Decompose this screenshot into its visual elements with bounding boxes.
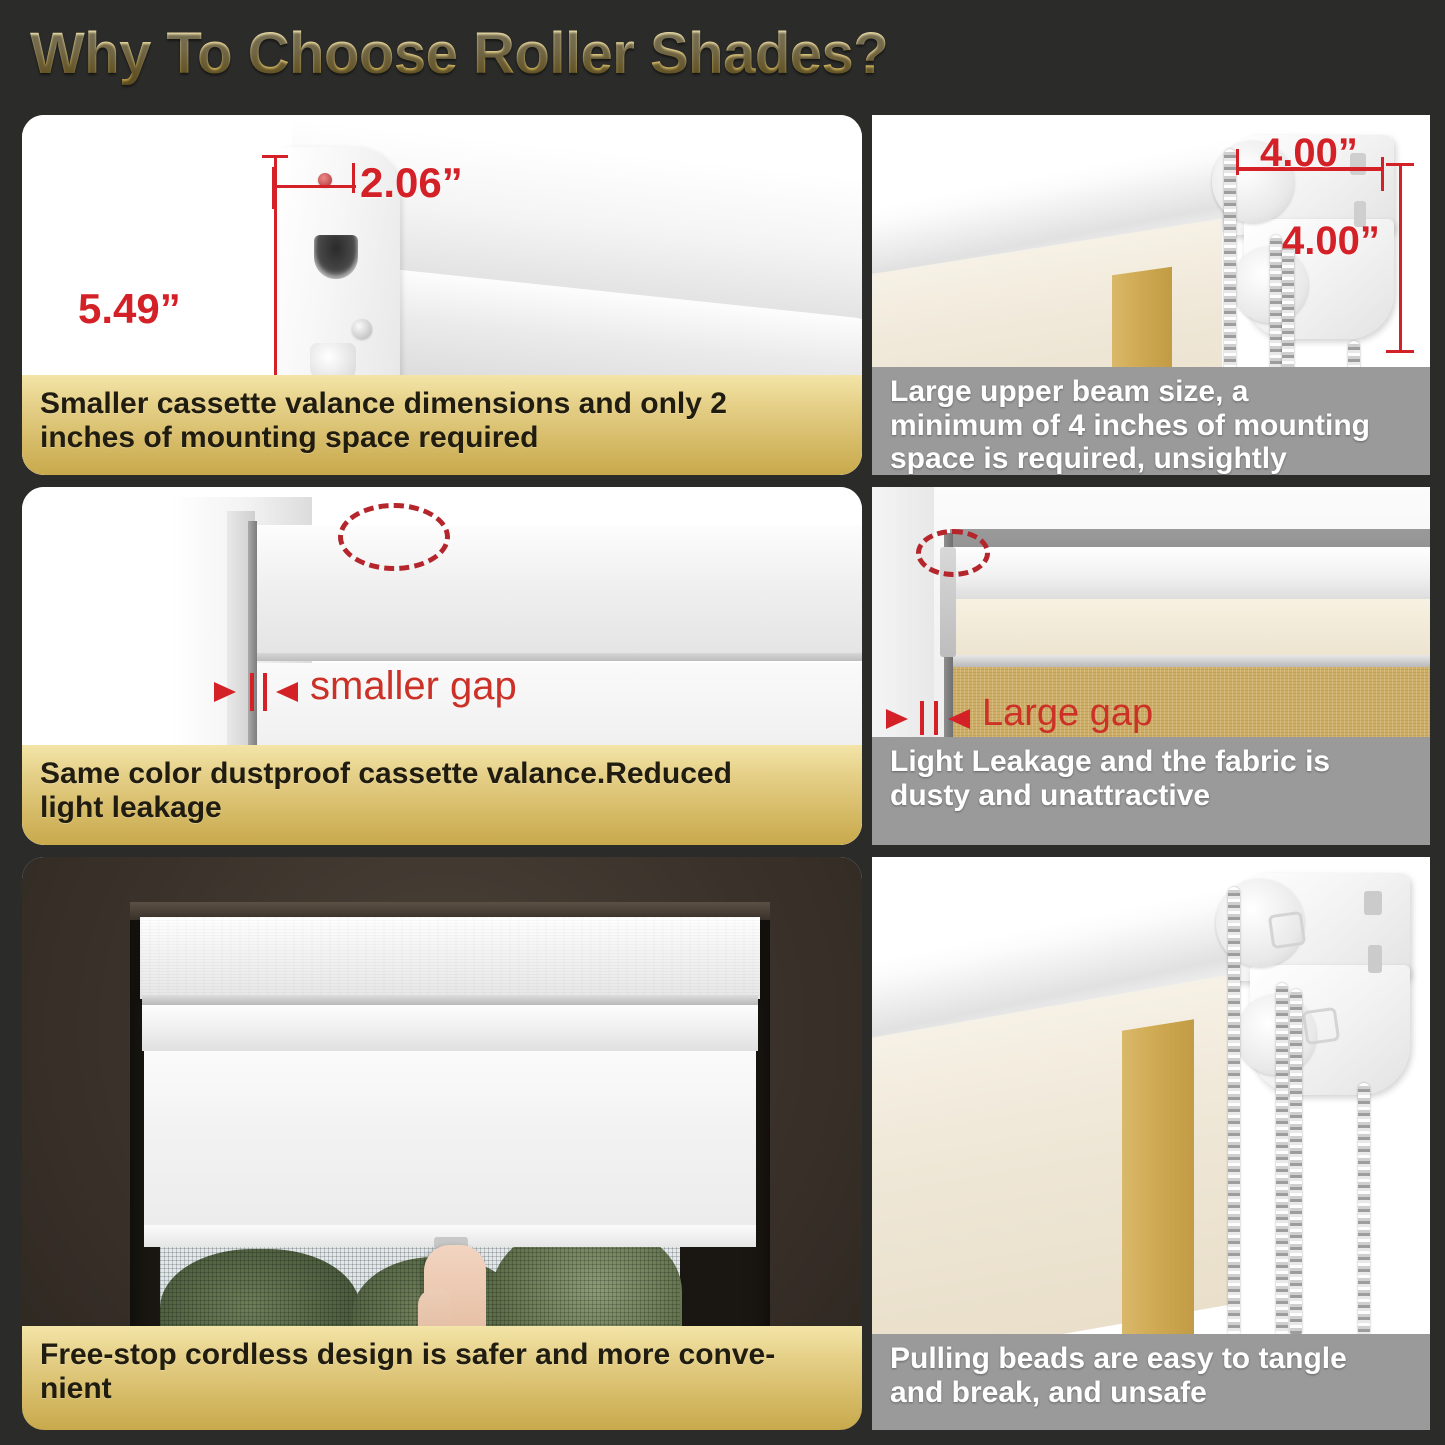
valance-front-roll: [142, 1005, 758, 1051]
height-dim-line: [1399, 163, 1402, 353]
bracket-notch-a: [1364, 891, 1382, 915]
panel-large-upper-beam: 4.00” 4.00” Large upper beam size, a min…: [872, 115, 1430, 475]
panel-caption-free-stop-cordless: Free-stop cordless design is safer and m…: [22, 1326, 862, 1430]
width-dim-left-tick: [1236, 149, 1239, 175]
upper-beam: [950, 547, 1430, 603]
width-dim-line: [272, 185, 356, 188]
bracket-icon-top: [1268, 911, 1306, 949]
gap-callout-label: smaller gap: [310, 664, 517, 709]
panel-caption-large-upper-beam: Large upper beam size, a minimum of 4 in…: [872, 367, 1430, 475]
page-title: Why To Choose Roller Shades?: [30, 18, 1130, 90]
panel-caption-cassette-valance-dimensions: Smaller cassette valance dimensions and …: [22, 375, 862, 475]
panel-caption-smaller-gap-dustproof: Same color dustproof cassette valance.Re…: [22, 745, 862, 845]
gap-tick-right: [263, 673, 267, 711]
valance-lip: [142, 995, 758, 1005]
gap-arrow-right: [948, 709, 970, 729]
bracket-icon-bottom: [1302, 1007, 1340, 1045]
width-dimension-label: 4.00”: [1260, 131, 1358, 176]
gap-tick-left: [250, 673, 254, 711]
panel-caption-light-leakage-dusty: Light Leakage and the fabric is dusty an…: [872, 737, 1430, 845]
bead-chain-front: [1228, 887, 1240, 1337]
gap-arrow-left: [886, 709, 908, 729]
width-dim-right-tick: [352, 163, 355, 193]
width-dimension-label: 2.06”: [360, 159, 463, 207]
gap-arrow-right: [276, 682, 298, 702]
width-dim-right-tick: [1381, 157, 1384, 191]
cream-fabric-band: [952, 599, 1430, 657]
gap-arrow-left: [214, 682, 236, 702]
panel-pulling-beads-unsafe: Pulling beads are easy to tangle and bre…: [872, 857, 1430, 1430]
height-dim-bottom-tick: [1386, 350, 1414, 353]
gap-highlight-ellipse: [338, 503, 450, 571]
height-dimension-label: 5.49”: [78, 285, 181, 333]
height-dimension-label: 4.00”: [1282, 219, 1380, 264]
gap-callout-label: Large gap: [982, 692, 1153, 735]
shade-fabric: [144, 1051, 756, 1227]
valance-lower-lip: [255, 653, 862, 661]
panel-cassette-valance-dimensions: 2.06” 5.49” Smaller cassette valance dim…: [22, 115, 862, 475]
bead-chain-mid2: [1290, 989, 1302, 1337]
fabric-backing: [1122, 1019, 1194, 1348]
gap-highlight-ellipse: [916, 529, 990, 577]
height-dim-top-tick: [1386, 163, 1414, 166]
valance-mid-screw: [352, 319, 372, 339]
bottom-rail: [952, 655, 1430, 667]
bracket-notch-b: [1368, 945, 1382, 973]
gap-tick-left: [920, 701, 924, 735]
panel-light-leakage-dusty: Large gap Light Leakage and the fabric i…: [872, 487, 1430, 845]
panel-free-stop-cordless: Free-stop cordless design is safer and m…: [22, 857, 862, 1430]
valance-slot: [314, 235, 358, 279]
bead-chain-back: [1358, 1083, 1370, 1337]
panel-smaller-gap-dustproof: smaller gap Same color dustproof cassett…: [22, 487, 862, 845]
gap-tick-right: [934, 701, 938, 735]
valance-texture: [140, 917, 760, 999]
height-dim-top-tick: [262, 155, 288, 158]
bead-chain-mid: [1276, 983, 1288, 1337]
panel-caption-pulling-beads-unsafe: Pulling beads are easy to tangle and bre…: [872, 1334, 1430, 1430]
